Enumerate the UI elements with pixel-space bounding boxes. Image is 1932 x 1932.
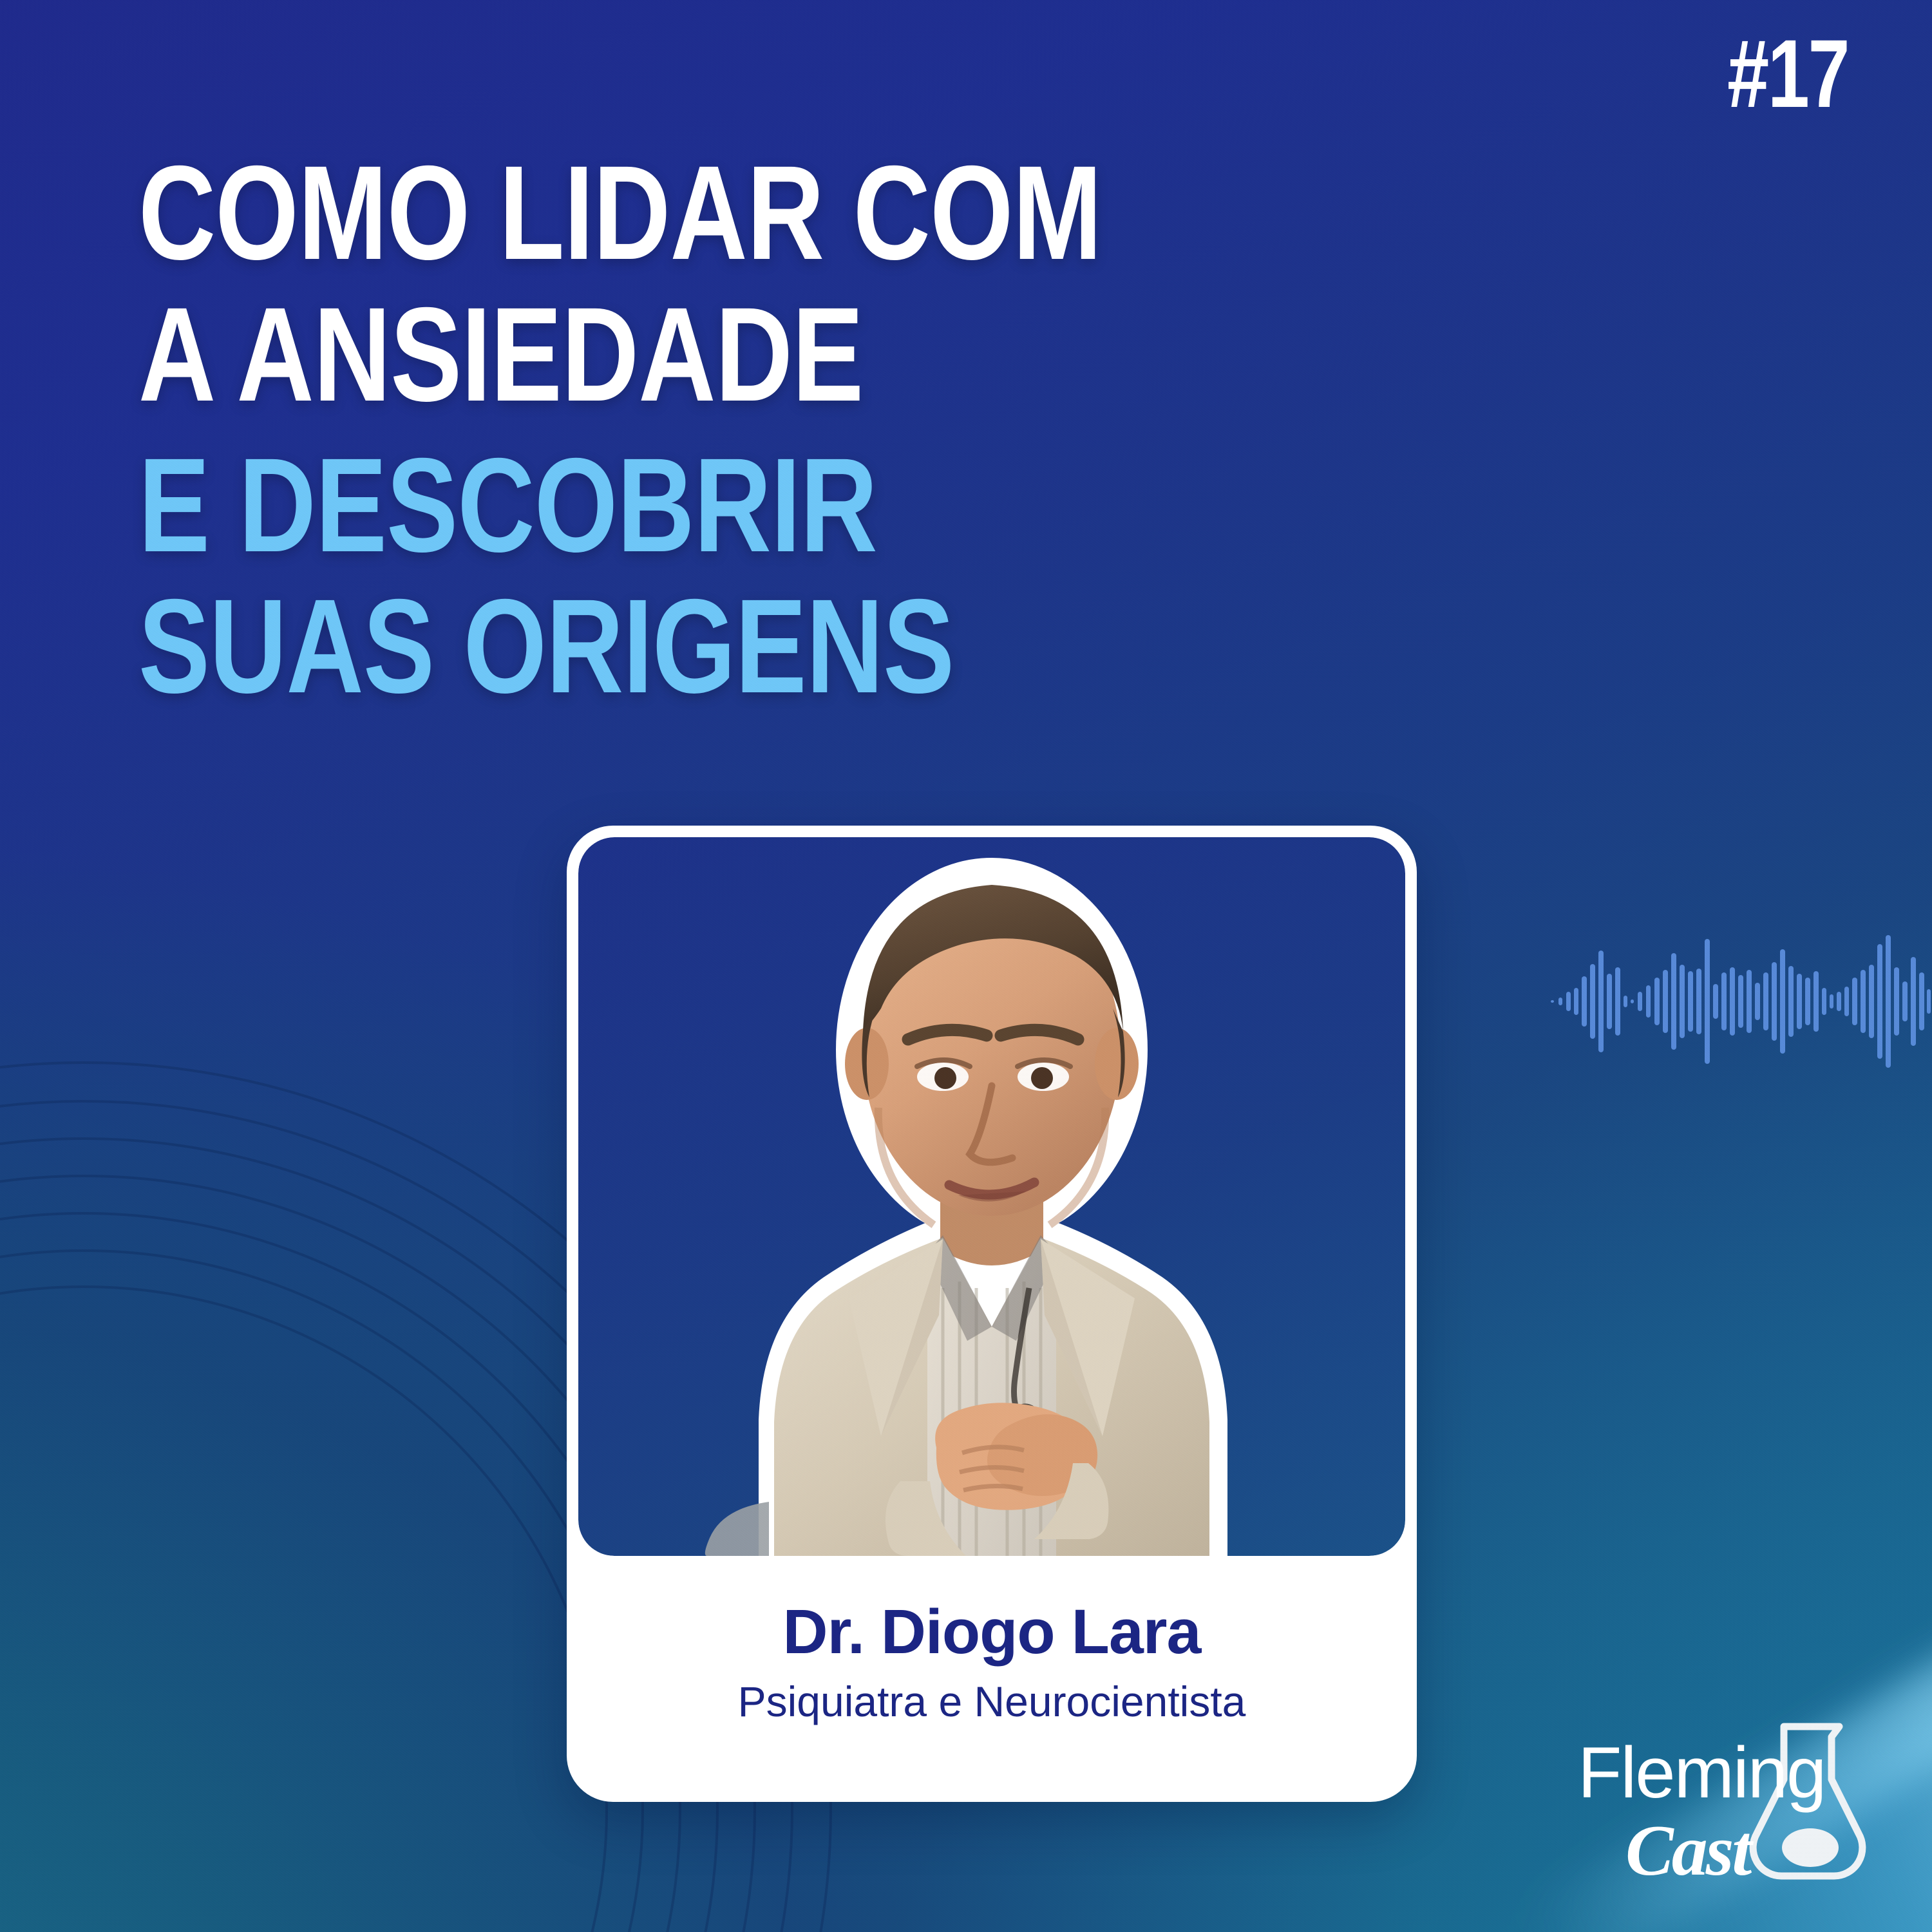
title-line-1: COMO LIDAR COM	[138, 148, 1323, 279]
brand-word-bottom: Cast	[1625, 1811, 1754, 1891]
audio-waveform	[1533, 927, 1932, 1075]
guest-card: Dr. Diogo Lara Psiquiatra e Neurocientis…	[567, 826, 1417, 1802]
guest-photo-frame	[578, 837, 1405, 1556]
podcast-cover: #17 COMO LIDAR COM A ANSIEDADE E DESCOBR…	[0, 0, 1932, 1932]
guest-role: Psiquiatra e Neurocientista	[567, 1677, 1417, 1726]
brand-word-top: Fleming	[1578, 1732, 1825, 1813]
guest-photo	[578, 837, 1405, 1556]
title-line-4: SUAS ORIGENS	[138, 582, 1323, 713]
page-title: COMO LIDAR COM A ANSIEDADE E DESCOBRIR S…	[138, 148, 1620, 713]
brand-logo: Fleming Cast	[1566, 1721, 1869, 1899]
episode-number: #17	[1727, 18, 1848, 129]
title-line-2: A ANSIEDADE	[138, 290, 1323, 421]
title-line-3: E DESCOBRIR	[138, 440, 1323, 572]
guest-name: Dr. Diogo Lara	[567, 1596, 1417, 1668]
